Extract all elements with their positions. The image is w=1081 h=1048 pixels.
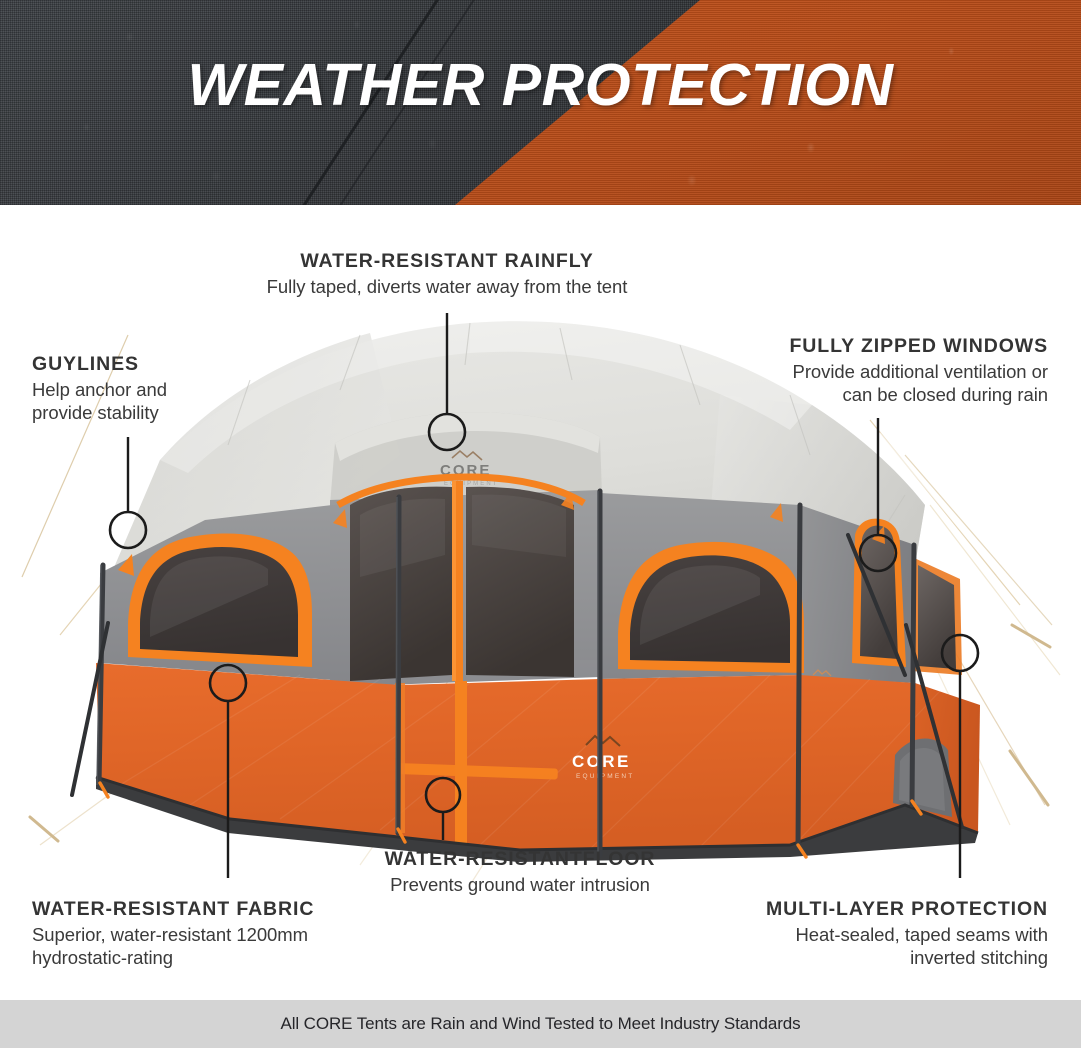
callout-fabric: WATER-RESISTANT FABRIC Superior, water-r…	[32, 898, 422, 969]
callout-multilayer: MULTI-LAYER PROTECTION Heat-sealed, tape…	[668, 898, 1048, 969]
infographic-page: WEATHER PROTECTION	[0, 0, 1081, 1048]
header-banner: WEATHER PROTECTION	[0, 0, 1081, 205]
window-right-panel	[912, 557, 962, 675]
callout-fabric-desc: Superior, water-resistant 1200mm hydrost…	[32, 923, 422, 970]
callout-floor-desc: Prevents ground water intrusion	[340, 873, 700, 896]
footer-bar: All CORE Tents are Rain and Wind Tested …	[0, 1000, 1081, 1048]
callout-guylines-desc: Help anchor and provide stability	[32, 378, 292, 425]
callout-rainfly-desc: Fully taped, diverts water away from the…	[227, 275, 667, 298]
callout-windows-title: FULLY ZIPPED WINDOWS	[688, 335, 1048, 359]
callout-guylines-title: GUYLINES	[32, 353, 292, 377]
page-title: WEATHER PROTECTION	[0, 56, 1081, 115]
callout-windows: FULLY ZIPPED WINDOWS Provide additional …	[688, 335, 1048, 406]
callout-floor: WATER-RESISTANTFLOOR Prevents ground wat…	[340, 848, 700, 896]
callout-guylines: GUYLINES Help anchor and provide stabili…	[32, 353, 292, 424]
tent-product-image: CORE EQUIPMENT	[0, 205, 1081, 905]
window-center-right	[618, 542, 804, 673]
window-left	[128, 533, 312, 667]
callout-multilayer-desc: Heat-sealed, taped seams with inverted s…	[668, 923, 1048, 970]
footer-text: All CORE Tents are Rain and Wind Tested …	[280, 1014, 800, 1034]
callout-rainfly-title: WATER-RESISTANT RAINFLY	[227, 250, 667, 274]
callout-rainfly: WATER-RESISTANT RAINFLY Fully taped, div…	[227, 250, 667, 298]
svg-text:EQUIPMENT: EQUIPMENT	[576, 773, 634, 780]
door-center-right	[466, 487, 574, 677]
callout-multilayer-title: MULTI-LAYER PROTECTION	[668, 898, 1048, 922]
callout-windows-desc: Provide additional ventilation or can be…	[688, 360, 1048, 407]
callout-floor-title: WATER-RESISTANTFLOOR	[340, 848, 700, 872]
callout-fabric-title: WATER-RESISTANT FABRIC	[32, 898, 422, 922]
